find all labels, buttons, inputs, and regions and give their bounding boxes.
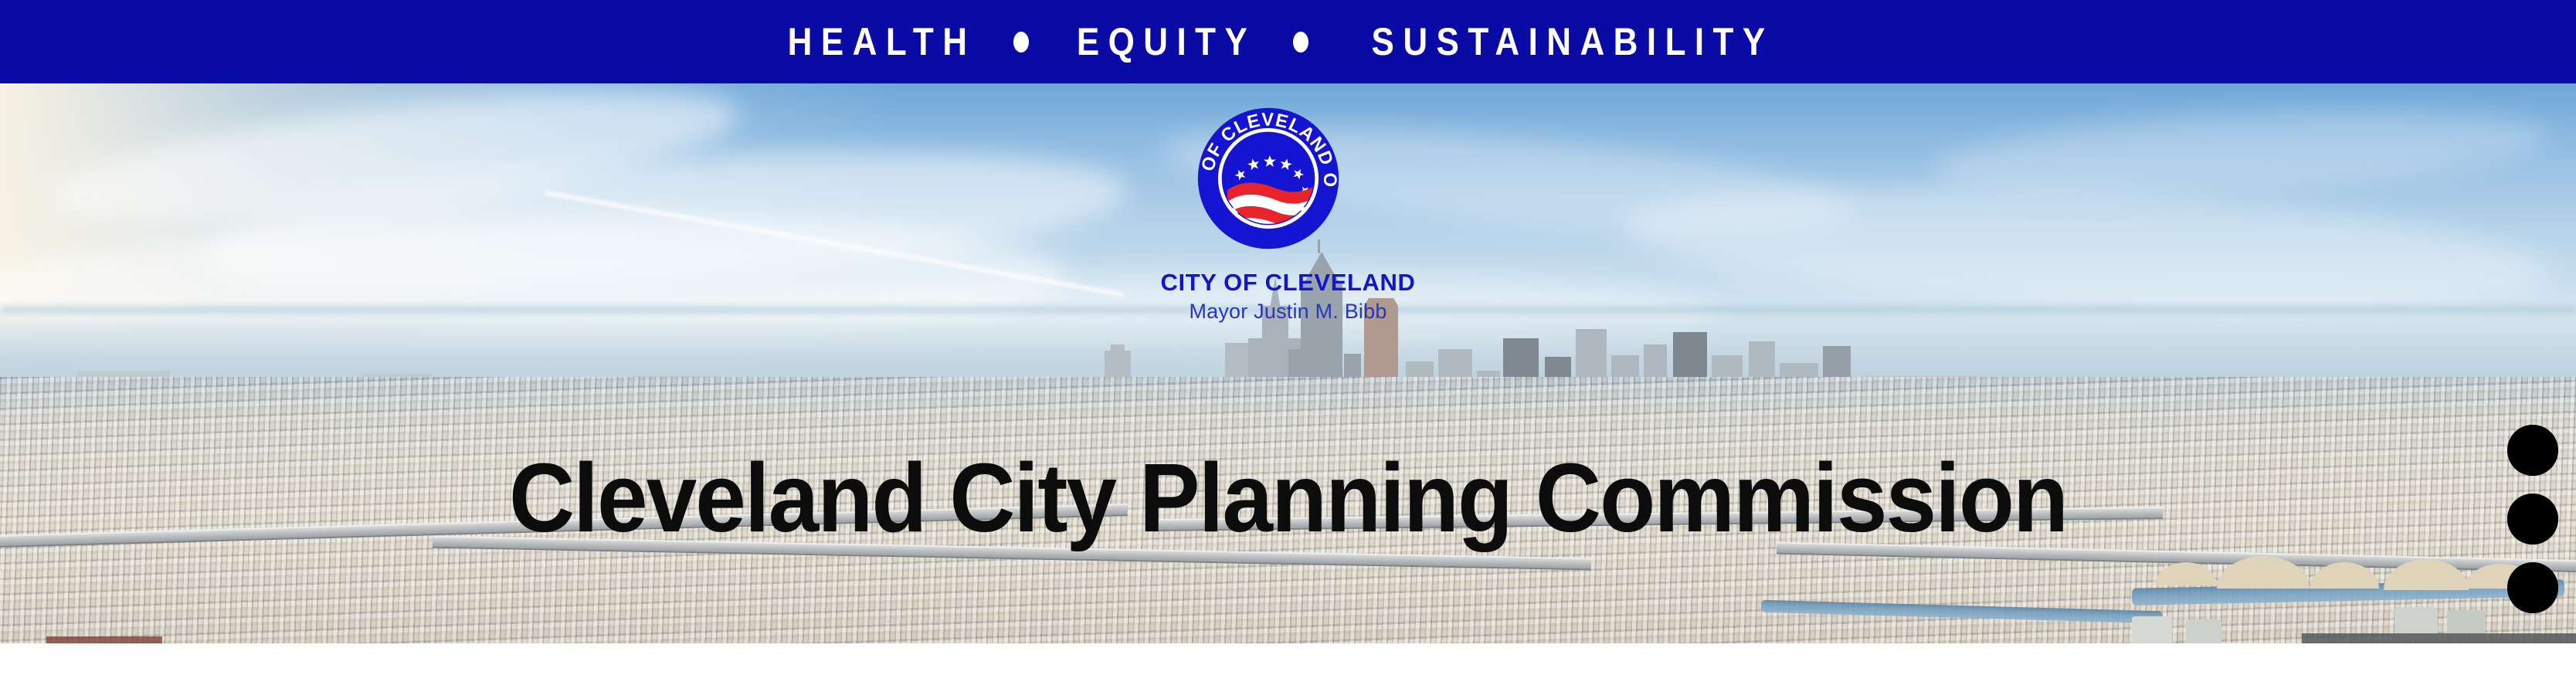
storage-tank — [2132, 616, 2172, 643]
tagline-word-equity: EQUITY — [1077, 22, 1256, 61]
tagline-banner-inner: HEALTH EQUITY SUSTAINABILITY — [775, 22, 1801, 61]
facebook-icon — [2507, 562, 2558, 613]
org-name: CITY OF CLEVELAND — [0, 269, 2576, 297]
youtube-link[interactable] — [2507, 425, 2558, 476]
facebook-link[interactable] — [2507, 562, 2558, 613]
instagram-link[interactable] — [2507, 494, 2558, 545]
storage-tank — [2186, 619, 2221, 643]
hero-photo: CITY OF CLEVELAND OHIO — [0, 83, 2576, 643]
tagline-banner: HEALTH EQUITY SUSTAINABILITY — [0, 0, 2576, 83]
apartment-building — [2302, 633, 2576, 643]
youtube-icon — [2507, 425, 2558, 476]
tagline-word-health: HEALTH — [787, 22, 976, 61]
cleveland-city-planning-commission-header: HEALTH EQUITY SUSTAINABILITY — [0, 0, 2576, 682]
city-of-cleveland-seal-icon: CITY OF CLEVELAND OHIO — [1195, 105, 1342, 252]
city-seal: CITY OF CLEVELAND OHIO — [1195, 105, 1342, 253]
page-title: Cleveland City Planning Commission — [0, 450, 2576, 547]
tagline-word-sustainability: SUSTAINABILITY — [1372, 22, 1774, 61]
dot-separator-icon — [1013, 32, 1029, 53]
brick-building — [46, 636, 162, 643]
instagram-icon — [2507, 494, 2558, 545]
mayor-line: Mayor Justin M. Bibb — [0, 300, 2576, 324]
dot-separator-icon — [1293, 32, 1308, 53]
social-links — [2506, 425, 2559, 613]
